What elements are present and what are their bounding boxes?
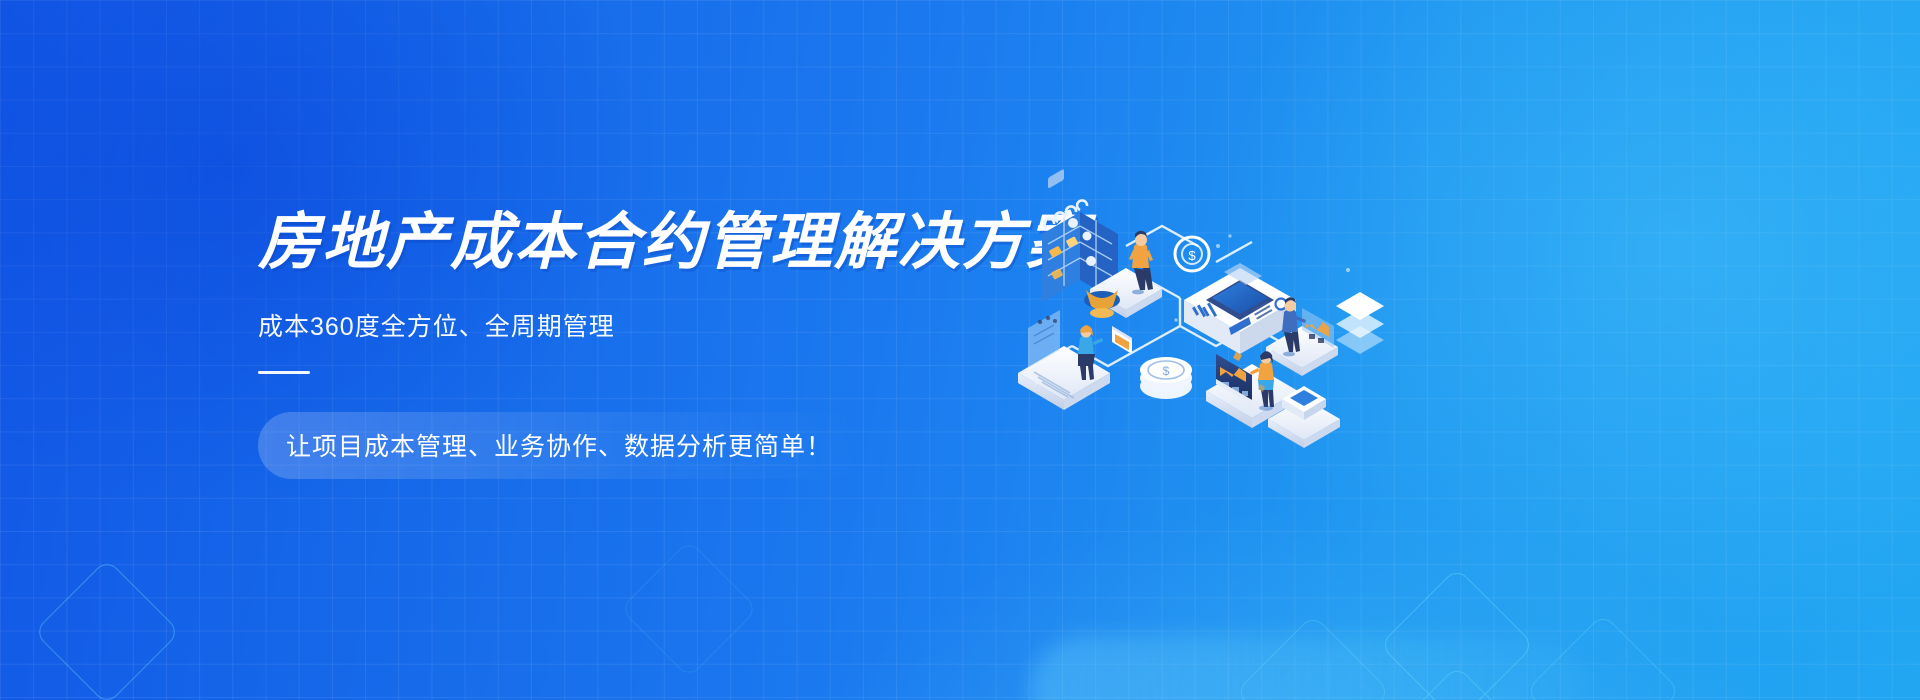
svg-text:$: $	[1188, 248, 1196, 263]
title-divider	[258, 371, 310, 374]
background-glow-bottom	[760, 480, 1860, 700]
bottom-light-streak	[1030, 636, 1590, 700]
isometric-scene-svg: $	[930, 150, 1400, 440]
banner-tagline: 让项目成本管理、业务协作、数据分析更简单！	[258, 412, 862, 479]
coin-stack-icon: $	[1140, 357, 1192, 399]
decorative-diamond-icon	[620, 540, 759, 679]
decorative-diamond-icon	[33, 558, 180, 700]
svg-text:$: $	[1163, 364, 1170, 378]
decorative-diamond-icon	[1525, 613, 1681, 700]
decorative-diamond-icon	[1379, 665, 1535, 700]
trophy-icon	[1084, 290, 1120, 318]
page-title: 房地产成本合约管理解决方案	[258, 210, 1018, 277]
hero-banner: 房地产成本合约管理解决方案 成本360度全方位、全周期管理 让项目成本管理、业务…	[0, 0, 1920, 700]
hero-illustration: $	[930, 150, 1400, 440]
banner-subtitle: 成本360度全方位、全周期管理	[258, 307, 1018, 343]
stacked-layers-icon	[1336, 292, 1384, 354]
decorative-diamond-icon	[1235, 614, 1391, 700]
banner-copy-block: 房地产成本合约管理解决方案 成本360度全方位、全周期管理 让项目成本管理、业务…	[258, 210, 1018, 479]
folder-icon	[1112, 326, 1132, 354]
decorative-diamond-icon	[1379, 567, 1535, 700]
